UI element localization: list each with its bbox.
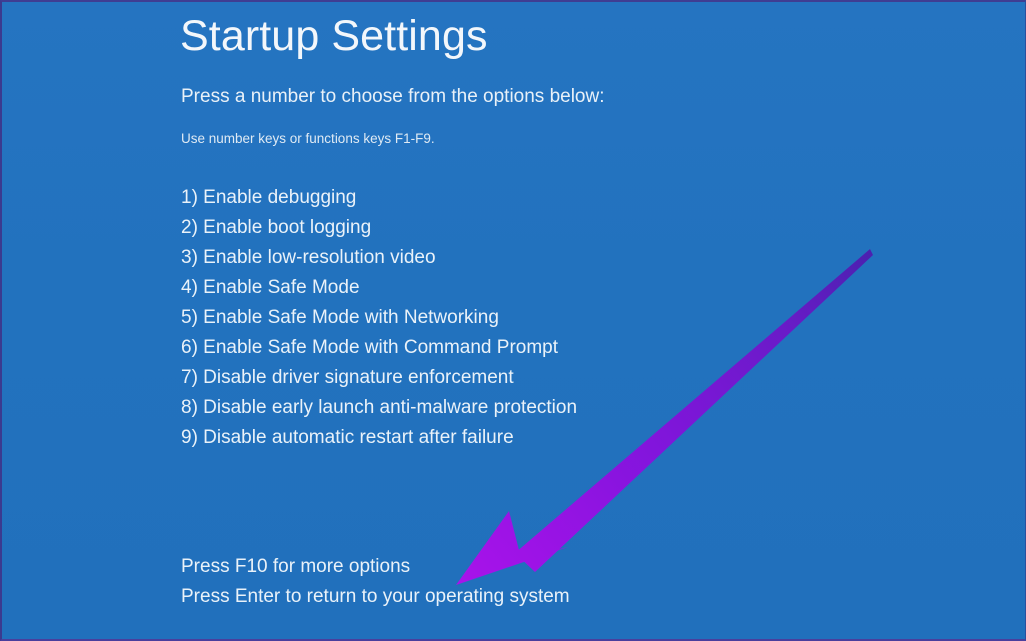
startup-options-list: 1) Enable debugging 2) Enable boot loggi… [181,183,577,453]
option-item-5[interactable]: 5) Enable Safe Mode with Networking [181,303,577,333]
option-item-7[interactable]: 7) Disable driver signature enforcement [181,363,577,393]
footer-actions: Press F10 for more options Press Enter t… [181,552,570,612]
option-item-2[interactable]: 2) Enable boot logging [181,213,577,243]
page-title: Startup Settings [180,10,488,62]
content-column: Startup Settings Press a number to choos… [178,2,998,639]
option-item-6[interactable]: 6) Enable Safe Mode with Command Prompt [181,333,577,363]
option-item-4[interactable]: 4) Enable Safe Mode [181,273,577,303]
option-item-9[interactable]: 9) Disable automatic restart after failu… [181,423,577,453]
option-item-3[interactable]: 3) Enable low-resolution video [181,243,577,273]
footer-return-to-os[interactable]: Press Enter to return to your operating … [181,582,570,612]
startup-settings-screen: Startup Settings Press a number to choos… [0,0,1026,641]
footer-more-options[interactable]: Press F10 for more options [181,552,570,582]
option-item-1[interactable]: 1) Enable debugging [181,183,577,213]
instruction-hint: Use number keys or functions keys F1-F9. [181,130,435,148]
instruction-lead: Press a number to choose from the option… [181,85,605,110]
option-item-8[interactable]: 8) Disable early launch anti-malware pro… [181,393,577,423]
